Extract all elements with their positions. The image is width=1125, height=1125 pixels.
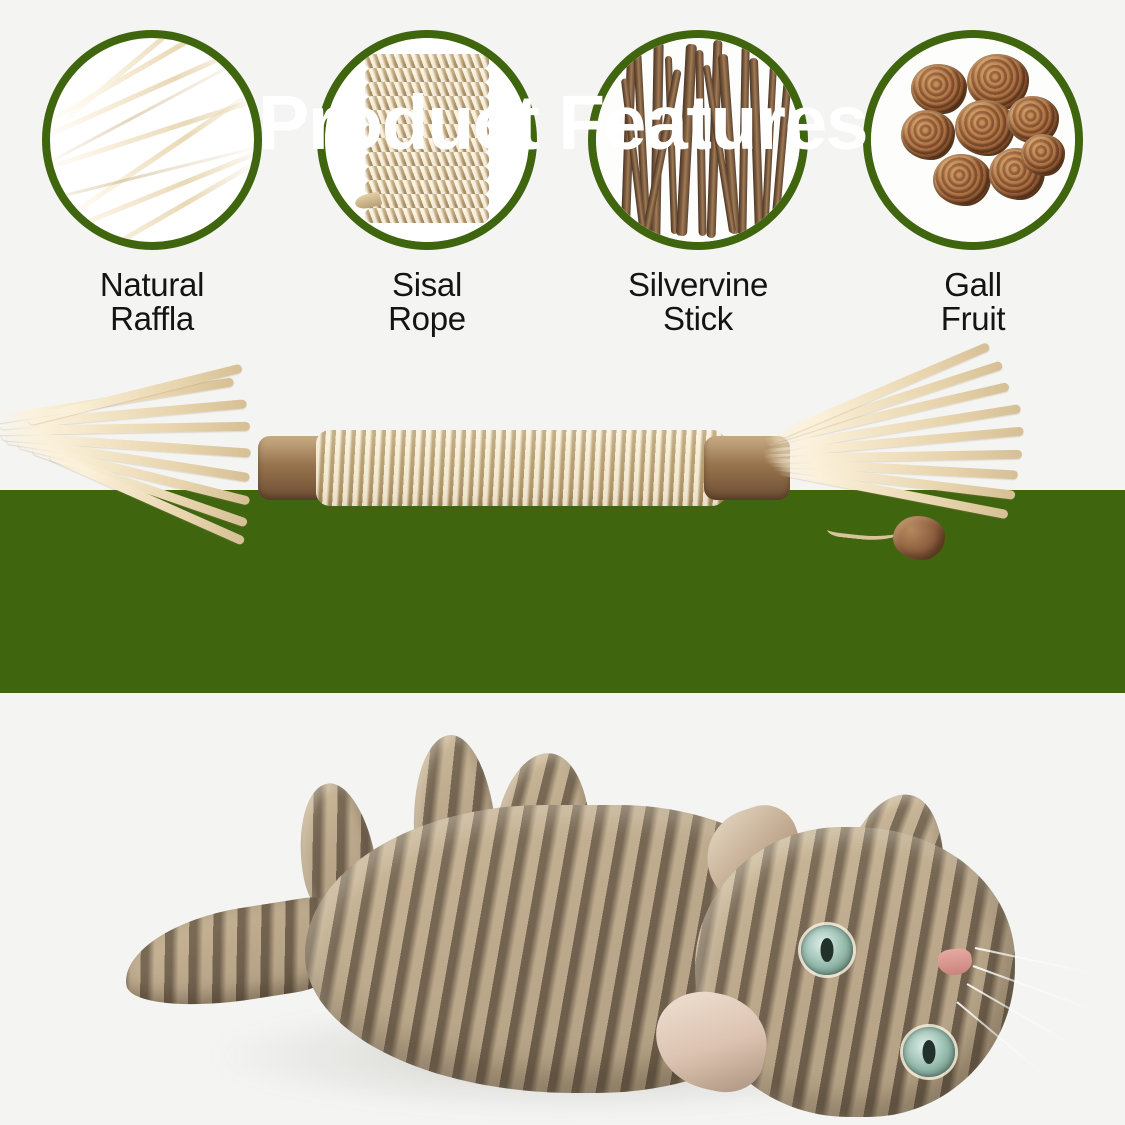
ingredient-icons-row: Natural Raffla — [0, 0, 1125, 370]
ingredient-label-line1: Silvervine — [588, 268, 808, 302]
cat-photo-section — [0, 693, 1125, 1125]
ingredient-label-line1: Natural — [42, 268, 262, 302]
ingredient-label-line2: Raffla — [42, 302, 262, 336]
tabby-cat-photo — [95, 697, 1030, 1125]
product-feature-page: Natural Raffla — [0, 0, 1125, 1125]
banner-title: Product Features — [0, 82, 1125, 164]
ingredient-label-line1: Sisal — [317, 268, 537, 302]
ingredient-item-sisal-rope: Sisal Rope — [317, 30, 537, 336]
ingredient-label: Natural Raffla — [42, 268, 262, 336]
cat-eye — [903, 1027, 955, 1077]
ingredient-label-line2: Stick — [588, 302, 808, 336]
ingredient-label: Gall Fruit — [863, 268, 1083, 336]
ingredient-label: Silvervine Stick — [588, 268, 808, 336]
raffia-tassel-right — [762, 376, 1042, 506]
ingredient-item-silvervine-stick: Silvervine Stick — [588, 30, 808, 336]
product-features-banner — [0, 490, 1125, 693]
ingredient-label-line1: Gall — [863, 268, 1083, 302]
ingredient-item-natural-raffla: Natural Raffla — [42, 30, 262, 336]
ingredient-label-line2: Rope — [317, 302, 537, 336]
ingredient-label-line2: Fruit — [863, 302, 1083, 336]
cat-eye — [801, 925, 853, 975]
ingredient-item-gall-fruit: Gall Fruit — [863, 30, 1083, 336]
ingredient-label: Sisal Rope — [317, 268, 537, 336]
